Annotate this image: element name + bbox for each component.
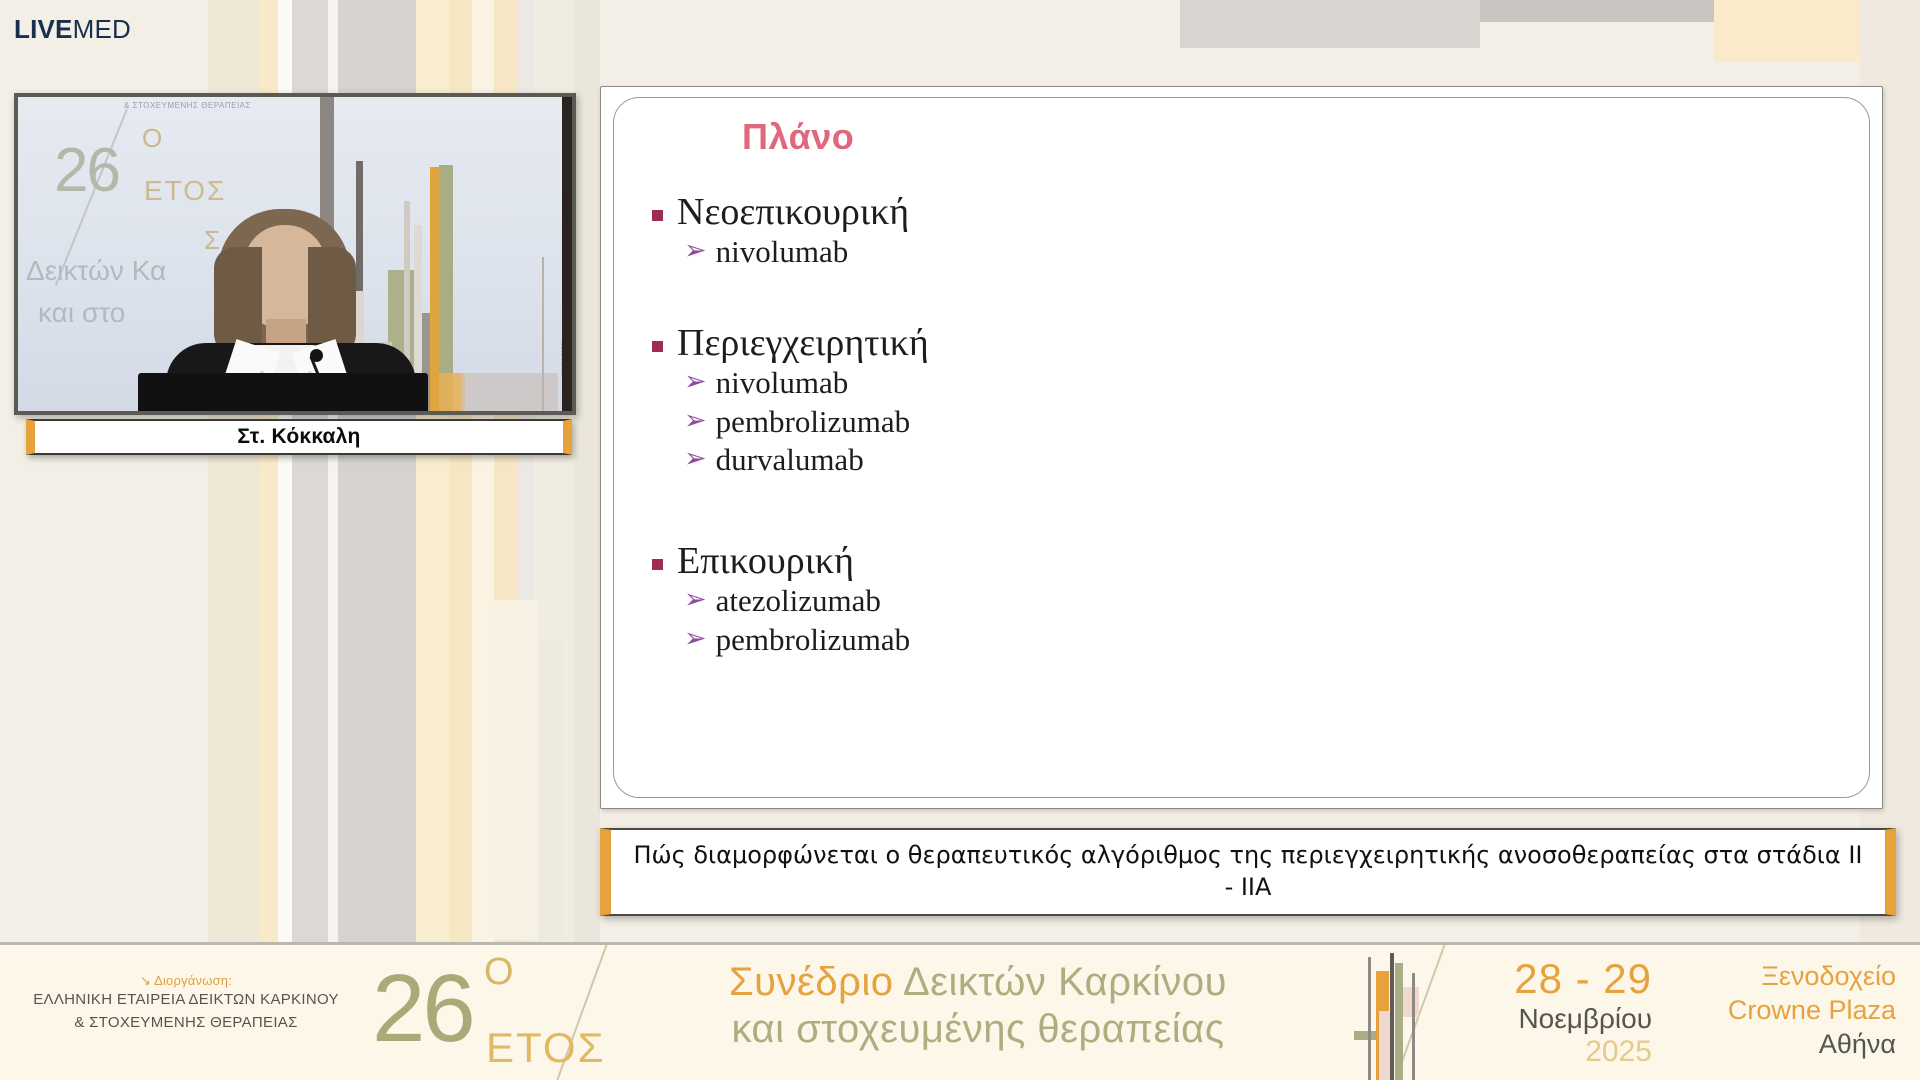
- speaker-video-panel[interactable]: & ΣΤΟΧΕΥΜΕΝΗΣ ΘΕΡΑΠΕΙΑΣ 26 Ο ΕΤΟΣ Σ Δεικ…: [14, 93, 576, 415]
- session-title-caption-bar: Πώς διαμορφώνεται ο θεραπευτικός αλγόριθ…: [600, 828, 1896, 916]
- logo-light-part: MED: [73, 14, 131, 44]
- backdrop-bar: [430, 167, 439, 411]
- edition-etos-label: ΕΤΟΣ: [486, 1027, 606, 1069]
- video-right-edge: [562, 97, 572, 411]
- backdrop-slide: & ΣΤΟΧΕΥΜΕΝΗΣ ΘΕΡΑΠΕΙΑΣ 26 Ο ΕΤΟΣ Σ Δεικ…: [18, 97, 572, 411]
- speaker-name-label: Στ. Κόκκαλη: [237, 425, 360, 449]
- logo-bold-part: LIVE: [14, 14, 73, 44]
- slide-group: Περιεγχειρητική ➢ nivolumab ➢ pembrolizu…: [652, 323, 929, 479]
- organizer-block: ↘Διοργάνωση: ΕΛΛΗΝΙΚΗ ΕΤΑΙΡΕΙΑ ΔΕΙΚΤΩΝ Κ…: [26, 973, 346, 1034]
- slide-group-heading-row: Περιεγχειρητική: [652, 323, 929, 363]
- slide-subitem: ➢ nivolumab: [684, 234, 909, 271]
- bg-band: [538, 640, 564, 940]
- slide-subitem-label: nivolumab: [716, 234, 849, 271]
- podium: [138, 373, 428, 411]
- slide-subitem-label: pembrolizumab: [716, 622, 911, 659]
- slide-group: Νεοεπικουρική ➢ nivolumab: [652, 192, 909, 271]
- slide-subitem: ➢ pembrolizumab: [684, 622, 910, 659]
- slide-group-heading: Νεοεπικουρική: [677, 192, 909, 232]
- organizer-kicker: ↘Διοργάνωση:: [26, 973, 346, 989]
- footer-decorative-bars: [1346, 953, 1432, 1077]
- congress-word-deikton: Δεικτών Καρκίνου: [903, 960, 1227, 1004]
- congress-title-line1: Συνέδριο Δεικτών Καρκίνου: [648, 959, 1308, 1006]
- speaker-name-plate: Στ. Κόκκαλη: [26, 419, 572, 455]
- square-bullet-icon: [652, 559, 663, 570]
- organizer-name-line1: ΕΛΛΗΝΙΚΗ ΕΤΑΙΡΕΙΑ ΔΕΙΚΤΩΝ ΚΑΡΚΙΝΟΥ: [26, 989, 346, 1012]
- slide-group: Επικουρική ➢ atezolizumab ➢ pembrolizuma…: [652, 541, 910, 658]
- slide-group-heading-row: Επικουρική: [652, 541, 910, 581]
- venue-label: Ξενοδοχείο: [1606, 959, 1896, 993]
- slide-subitem-label: pembrolizumab: [716, 404, 911, 441]
- venue-block: Ξενοδοχείο Crowne Plaza Αθήνα: [1606, 959, 1896, 1061]
- slide-subitem: ➢ atezolizumab: [684, 583, 910, 620]
- arrow-bullet-icon: ➢: [684, 622, 707, 656]
- arrow-bullet-icon: ➢: [684, 583, 707, 617]
- slide-subitem: ➢ durvalumab: [684, 442, 929, 479]
- edition-year-block: 26 Ο ΕΤΟΣ: [372, 955, 602, 1075]
- arrow-bullet-icon: ➢: [684, 442, 707, 476]
- conference-footer-banner: ↘Διοργάνωση: ΕΛΛΗΝΙΚΗ ΕΤΑΙΡΕΙΑ ΔΕΙΚΤΩΝ Κ…: [0, 942, 1920, 1080]
- slide-group-heading: Επικουρική: [677, 541, 854, 581]
- slide-group-heading-row: Νεοεπικουρική: [652, 192, 909, 232]
- congress-title-line2: και στοχευμένης θεραπείας: [648, 1006, 1308, 1053]
- organizer-kicker-label: Διοργάνωση:: [154, 973, 232, 988]
- backdrop-line2: και στο: [38, 297, 125, 329]
- backdrop-sigma: Σ: [204, 225, 220, 256]
- slide-subitem-label: nivolumab: [716, 365, 849, 402]
- venue-city: Αθήνα: [1606, 1027, 1896, 1061]
- square-bullet-icon: [652, 210, 663, 221]
- arrow-bullet-icon: ➢: [684, 365, 707, 399]
- footer-bar: [1379, 1011, 1390, 1080]
- bg-band: [1180, 0, 1480, 48]
- bg-band: [574, 0, 600, 1080]
- arrow-bullet-icon: ➢: [684, 404, 707, 438]
- edition-degree-symbol: Ο: [484, 953, 514, 991]
- slide-title: Πλάνο: [742, 116, 854, 158]
- footer-bar: [1390, 953, 1394, 1080]
- venue-name: Crowne Plaza: [1606, 993, 1896, 1027]
- edition-number: 26: [372, 961, 473, 1057]
- backdrop-top-text: & ΣΤΟΧΕΥΜΕΝΗΣ ΘΕΡΑΠΕΙΑΣ: [124, 101, 251, 110]
- slide-content-area: Πλάνο Νεοεπικουρική ➢ nivolumab Περιεγχε…: [613, 97, 1870, 798]
- footer-bar: [1368, 957, 1371, 1080]
- livemed-logo: LIVEMED: [14, 16, 131, 42]
- backdrop-etos: ΕΤΟΣ: [144, 175, 226, 207]
- microphone-icon: [310, 349, 323, 362]
- congress-title-block: Συνέδριο Δεικτών Καρκίνου και στοχευμένη…: [648, 959, 1308, 1053]
- congress-word-synedrio: Συνέδριο: [729, 960, 894, 1004]
- footer-bar: [1403, 987, 1419, 1017]
- slide-group-heading: Περιεγχειρητική: [677, 323, 929, 363]
- backdrop-line1: Δεικτών Κα: [26, 255, 166, 287]
- backdrop-degree: Ο: [142, 123, 162, 154]
- arrow-bullet-icon: ➢: [684, 234, 707, 268]
- slide-subitem: ➢ pembrolizumab: [684, 404, 929, 441]
- backdrop-year-number: 26: [54, 135, 119, 206]
- slide-subitem-label: atezolizumab: [716, 583, 881, 620]
- slide-subitem-label: durvalumab: [716, 442, 864, 479]
- presentation-slide-panel[interactable]: Πλάνο Νεοεπικουρική ➢ nivolumab Περιεγχε…: [600, 86, 1883, 809]
- bg-band: [494, 600, 538, 940]
- organizer-name-line2: & ΣΤΟΧΕΥΜΕΝΗΣ ΘΕΡΑΠΕΙΑΣ: [26, 1012, 346, 1035]
- footer-bar: [1395, 963, 1403, 1080]
- video-frame: & ΣΤΟΧΕΥΜΕΝΗΣ ΘΕΡΑΠΕΙΑΣ 26 Ο ΕΤΟΣ Σ Δεικ…: [18, 97, 572, 411]
- backdrop-bar: [542, 257, 544, 411]
- arrow-down-right-icon: ↘: [140, 974, 151, 989]
- footer-bar: [1412, 973, 1415, 1080]
- session-title-text: Πώς διαμορφώνεται ο θεραπευτικός αλγόριθ…: [611, 840, 1885, 903]
- slide-subitem: ➢ nivolumab: [684, 365, 929, 402]
- square-bullet-icon: [652, 341, 663, 352]
